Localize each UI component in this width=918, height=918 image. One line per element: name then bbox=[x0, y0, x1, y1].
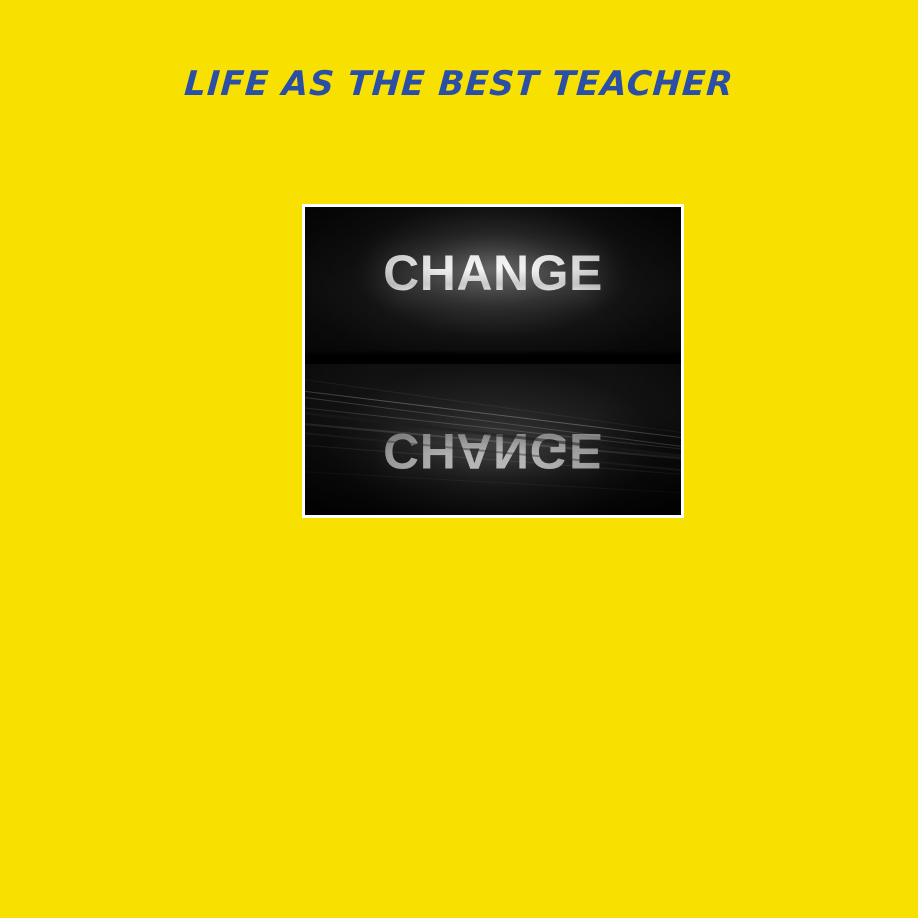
photo-frame: CHANGE CHANGE bbox=[302, 204, 684, 518]
slide-canvas: LIFE AS THE BEST TEACHER CHANGE CHANGE bbox=[0, 0, 918, 918]
photo-word-change: CHANGE bbox=[305, 248, 681, 298]
photo-word-change-reflection: CHANGE bbox=[305, 426, 681, 476]
change-photo: CHANGE CHANGE bbox=[305, 207, 681, 515]
page-title: LIFE AS THE BEST TEACHER bbox=[0, 62, 918, 106]
